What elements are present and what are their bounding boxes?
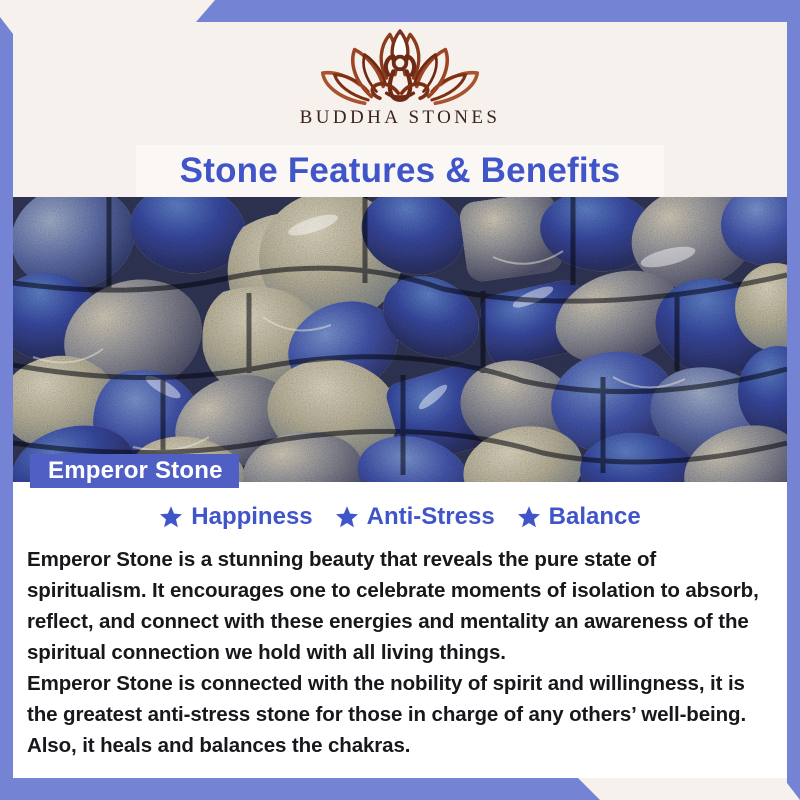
star-icon: [335, 505, 359, 529]
poster-sheet: BUDDHA STONES Stone Features & Benefits: [13, 22, 787, 778]
frame-bottom-bar: [0, 778, 800, 800]
description-copy: Emperor Stone is a stunning beauty that …: [27, 544, 773, 761]
description-panel: Happiness Anti-Stress: [13, 482, 787, 778]
benefits-row: Happiness Anti-Stress: [27, 482, 773, 544]
stone-name-ribbon: Emperor Stone: [30, 454, 239, 488]
benefit-item-anti-stress: Anti-Stress: [335, 503, 495, 531]
frame-right-bar: [787, 0, 800, 800]
benefit-item-happiness: Happiness: [159, 503, 312, 531]
star-icon: [159, 505, 183, 529]
description-paragraph-1: Emperor Stone is a stunning beauty that …: [27, 544, 773, 668]
lotus-meditation-figure-icon: [316, 26, 484, 110]
benefit-label: Balance: [549, 503, 641, 531]
page-title: Stone Features & Benefits: [180, 151, 621, 191]
lapis-lazuli-stones-image: [13, 197, 787, 482]
frame-left-bar: [0, 17, 13, 800]
benefit-item-balance: Balance: [517, 503, 641, 531]
benefit-label: Anti-Stress: [367, 503, 495, 531]
stone-benefits-poster: BUDDHA STONES Stone Features & Benefits: [0, 0, 800, 800]
benefit-label: Happiness: [191, 503, 312, 531]
brand-header: BUDDHA STONES: [13, 22, 787, 145]
frame-top-bar: [0, 0, 800, 22]
title-band: Stone Features & Benefits: [13, 145, 787, 197]
title-plate: Stone Features & Benefits: [136, 145, 664, 197]
brand-name: BUDDHA STONES: [300, 107, 501, 129]
star-icon: [517, 505, 541, 529]
description-paragraph-2: Emperor Stone is connected with the nobi…: [27, 668, 773, 761]
stone-name-label: Emperor Stone: [48, 457, 223, 485]
